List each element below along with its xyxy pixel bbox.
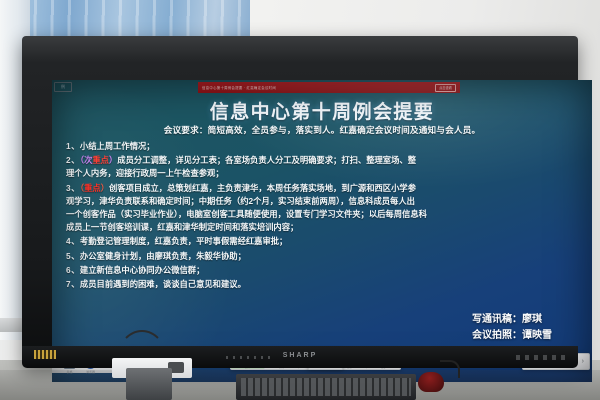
app-top-bar-button[interactable]: 点击查看 (435, 84, 456, 92)
item-text: 办公室健身计划，由廖琪负责，朱毅华协助； (80, 251, 246, 261)
app-top-bar[interactable]: 信息中心第十周例会提要 · 红嘉确定会议时间 点击查看 (198, 82, 460, 93)
item-number: 4、 (66, 236, 80, 246)
item-number: 5、 (66, 251, 80, 261)
mouse-cord (440, 360, 460, 378)
next-page-button[interactable]: › (582, 358, 584, 365)
item-text: 创客项目成立，总策划红嘉，主负责津华，本周任务落实场地，到广源和西区小学参 (109, 183, 416, 193)
signature-block: 写通讯稿：廖琪 会议拍照：谭映雪 (472, 312, 552, 344)
item-text: 考勤登记管理制度，红嘉负责，平时事假需经红嘉审批； (80, 236, 287, 246)
list-item-continuation: 观学习，津华负责联系和确定时间；中期任务（约2个月，实习结束前两周），信息科成员… (66, 195, 580, 208)
room-photo-scene: 例 信息中心第十周例会提要 · 红嘉确定会议时间 点击查看 信息中心第十周例会提… (0, 0, 600, 400)
item-marker-emphasis: 重点 (84, 183, 101, 193)
item-marker-emphasis: 重点 (92, 155, 109, 165)
item-text: 理个人内务，迎接行政周一上午检查参观； (66, 168, 224, 178)
signature-line-photographer: 会议拍照：谭映雪 (472, 328, 552, 344)
item-number: 3、 (66, 183, 80, 193)
item-text: 建立新信息中心协同办公微信群； (80, 265, 204, 275)
list-item: 1、小结上周工作情况； (66, 140, 580, 153)
item-text: 成员上一节创客培训课，红嘉和津华制定时间和落实培训内容； (66, 222, 298, 232)
keyboard[interactable] (236, 374, 416, 400)
list-item: 7、成员目前遇到的困难，谈谈自己意见和建议。 (66, 278, 580, 291)
item-text: 一个创客作品（实习毕业作业），电脑室创客工具随便使用，设置专门学习文件夹；以后每… (66, 209, 427, 219)
app-top-bar-title: 信息中心第十周例会提要 · 红嘉确定会议时间 (202, 85, 430, 90)
list-item: 6、建立新信息中心协同办公微信群； (66, 264, 580, 277)
mouse[interactable] (418, 372, 444, 392)
list-item: 4、考勤登记管理制度，红嘉负责，平时事假需经红嘉审批； (66, 235, 580, 248)
window-corner-tag: 例 (54, 82, 72, 92)
item-marker: （次重点） (80, 155, 117, 165)
page-title: 信息中心第十周例会提要 (52, 97, 592, 124)
agenda-list: 1、小结上周工作情况； 2、（次重点）成员分工调整，详见分工表；各室场负责人分工… (66, 140, 580, 292)
list-item-continuation: 一个创客作品（实习毕业作业），电脑室创客工具随便使用，设置专门学习文件夹；以后每… (66, 208, 580, 221)
sharp-display-bezel: 例 信息中心第十周例会提要 · 红嘉确定会议时间 点击查看 信息中心第十周例会提… (22, 36, 578, 366)
item-number: 6、 (66, 265, 80, 275)
item-text: 小结上周工作情况； (80, 141, 155, 151)
item-text: 成员分工调整，详见分工表；各室场负责人分工及明确要求；打扫、整理室场、整 (117, 155, 416, 165)
item-text: 观学习，津华负责联系和确定时间；中期任务（约2个月，实习结束前两周），信息科成员… (66, 196, 415, 206)
list-item: 2、（次重点）成员分工调整，详见分工表；各室场负责人分工及明确要求；打扫、整理室… (66, 154, 580, 167)
brand-logo: SHARP (0, 352, 600, 359)
item-text: 成员目前遇到的困难，谈谈自己意见和建议。 (80, 279, 246, 289)
chin-right-ports (516, 355, 568, 360)
signature-line-reporter: 写通讯稿：廖琪 (472, 312, 552, 328)
meeting-requirement-line: 会议要求：简短高效，全员参与，落实到人。红嘉确定会议时间及通知与会人员。 (52, 124, 592, 136)
item-number: 1、 (66, 141, 80, 151)
list-item-continuation: 理个人内务，迎接行政周一上午检查参观； (66, 167, 580, 180)
item-marker: （重点） (80, 183, 109, 193)
item-number: 2、 (66, 155, 80, 165)
item-number: 7、 (66, 279, 80, 289)
list-item: 5、办公室健身计划，由廖琪负责，朱毅华协助； (66, 250, 580, 263)
list-item: 3、（重点）创客项目成立，总策划红嘉，主负责津华，本周任务落实场地，到广源和西区… (66, 182, 580, 195)
list-item-continuation: 成员上一节创客培训课，红嘉和津华制定时间和落实培训内容； (66, 221, 580, 234)
device-box-dark (126, 368, 172, 400)
